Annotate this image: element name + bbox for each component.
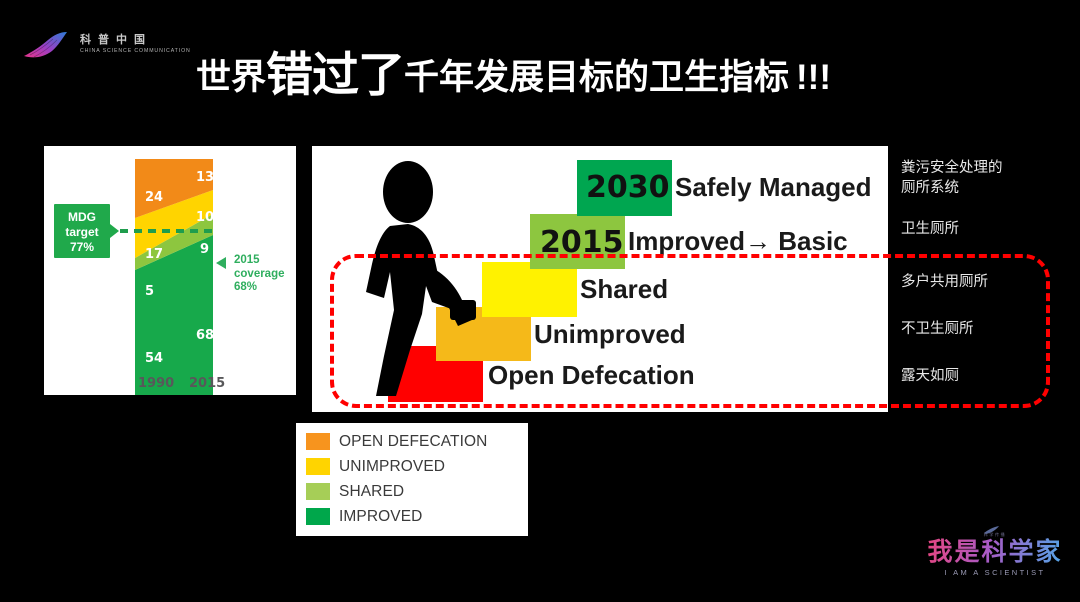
walking-person-icon — [354, 160, 484, 400]
stacked-bar-chart-panel: 24 17 5 54 13 10 9 68 MDG target 77% 201… — [44, 146, 296, 395]
mdg-target-line1: MDG — [54, 210, 110, 225]
x-axis-label-1990: 1990 — [138, 376, 174, 391]
title-exclamations: !!! — [789, 58, 831, 98]
mdg-target-line2: target — [54, 225, 110, 240]
kepu-china-mark-icon — [22, 30, 74, 62]
legend-swatch-unimproved-icon — [306, 458, 330, 475]
sanitation-ladder-diagram: Open Defecation Unimproved Shared Improv… — [312, 146, 888, 412]
annotation-shared: 多户共用厕所 — [901, 272, 988, 292]
title-rest: 千年发展目标的卫生指标 — [404, 49, 789, 100]
legend-item-improved: IMPROVED — [306, 504, 528, 529]
coverage-line2: coverage — [234, 268, 285, 282]
stair-year-2030: 2030 — [586, 170, 670, 205]
legend-label-shared: SHARED — [339, 483, 404, 501]
stair-year-2015: 2015 — [540, 225, 624, 260]
bar-value-2015-unimproved: 10 — [196, 210, 214, 225]
brand-logo-en: CHINA SCIENCE COMMUNICATION — [80, 47, 192, 55]
annotation-unimproved: 不卫生厕所 — [901, 319, 974, 339]
coverage-arrow-icon — [216, 257, 226, 269]
legend-swatch-improved-icon — [306, 508, 330, 525]
brand-logo-text: 科普中国 CHINA SCIENCE COMMUNICATION — [80, 34, 192, 55]
brand-logo: 科普中国 CHINA SCIENCE COMMUNICATION — [22, 28, 192, 68]
i-am-a-scientist-logo: 科学传播 我是科学家 I AM A SCIENTIST — [925, 524, 1065, 586]
chart-legend: OPEN DEFECATION UNIMPROVED SHARED IMPROV… — [296, 423, 528, 536]
legend-label-unimproved: UNIMPROVED — [339, 458, 445, 476]
legend-label-open-defecation: OPEN DEFECATION — [339, 433, 487, 451]
stair-block-shared — [482, 262, 577, 317]
annotation-open-defecation: 露天如厕 — [901, 366, 959, 386]
legend-swatch-open-defecation-icon — [306, 433, 330, 450]
bar-value-2015-open-defecation: 13 — [196, 170, 214, 185]
stair-label-open-defecation: Open Defecation — [488, 360, 695, 391]
stair-label-improved-basic: Improved→ Basic — [628, 226, 848, 257]
chart-plot-area: 24 17 5 54 13 10 9 68 MDG target 77% 201… — [44, 146, 296, 395]
brand-logo-cn: 科普中国 — [80, 34, 192, 47]
title-lead: 世界 — [196, 49, 266, 100]
x-axis-label-2015: 2015 — [189, 376, 225, 391]
bar-value-1990-unimproved: 17 — [145, 247, 163, 262]
title-emphasis: 错过了 — [266, 36, 404, 105]
scientist-logo-cn: 我是科学家 — [925, 538, 1065, 567]
coverage-line1: 2015 — [234, 254, 285, 268]
annotation-safely-managed: 粪污安全处理的 厕所系统 — [901, 158, 1003, 198]
scientist-logo-en: I AM A SCIENTIST — [925, 567, 1065, 578]
legend-item-open-defecation: OPEN DEFECATION — [306, 429, 528, 454]
coverage-2015-callout: 2015 coverage 68% — [234, 254, 285, 295]
bar-value-2015-improved: 68 — [196, 328, 214, 343]
mdg-target-callout: MDG target 77% — [54, 204, 110, 258]
mdg-target-arrow-icon — [110, 224, 119, 238]
stair-label-shared: Shared — [580, 274, 668, 305]
legend-item-unimproved: UNIMPROVED — [306, 454, 528, 479]
page-title: 世界 错过了 千年发展目标的卫生指标 !!! — [196, 34, 831, 94]
bar-value-1990-improved: 54 — [145, 351, 163, 366]
stair-label-unimproved: Unimproved — [534, 319, 686, 350]
stair-label-safely-managed: Safely Managed — [675, 172, 872, 203]
scientist-logo-mark-icon: 科学传播 — [960, 524, 1030, 538]
bar-value-1990-shared: 5 — [145, 284, 154, 299]
mdg-target-line3: 77% — [54, 240, 110, 255]
legend-swatch-shared-icon — [306, 483, 330, 500]
legend-label-improved: IMPROVED — [339, 508, 422, 526]
annotation-improved-basic: 卫生厕所 — [901, 219, 959, 239]
svg-text:科学传播: 科学传播 — [984, 531, 1006, 537]
legend-item-shared: SHARED — [306, 479, 528, 504]
bar-value-2015-shared: 9 — [200, 242, 209, 257]
coverage-line3: 68% — [234, 281, 285, 295]
bar-value-1990-open-defecation: 24 — [145, 190, 163, 205]
mdg-target-dashed-line — [120, 229, 216, 233]
